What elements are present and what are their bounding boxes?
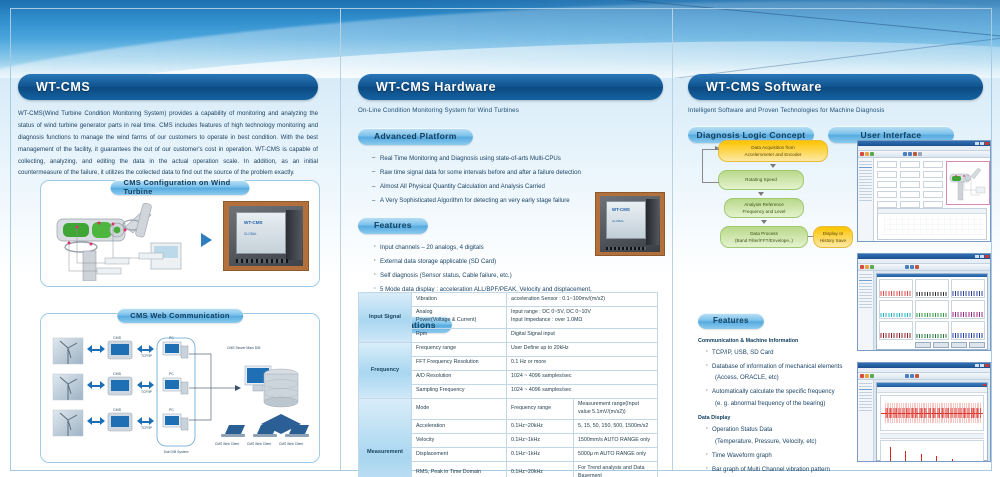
spec-range: 0.1Hz~1kHz (507, 448, 574, 462)
flow-node-analysis-reference: Analysis Reference Frequency and Level (724, 198, 804, 218)
software-header: WT-CMS Software (688, 74, 983, 100)
spec-value: 1500mm/s AUTO RANGE only (574, 434, 658, 448)
list-item: Operation Status Data (704, 425, 858, 435)
cms-web-title: CMS Web Communication (117, 308, 243, 323)
hardware-photo-brand: GLOBAL (612, 219, 624, 223)
table-row: Frequency Frequency range User Define up… (359, 342, 658, 356)
nacelle-schematic-icon (47, 203, 197, 281)
device-photo-brand: GLOBAL (244, 232, 257, 236)
tool-pause-icon[interactable] (865, 374, 869, 378)
mdi-child-window (876, 273, 988, 350)
tree-sidebar[interactable] (858, 271, 874, 351)
tool-settings-icon[interactable] (918, 152, 922, 156)
spec-key: Rpm (412, 328, 507, 342)
brochure-page: WT-CMS WT-CMS(Wind Turbine Condition Mon… (0, 0, 1000, 477)
list-item: Raw time signal data for some intervals … (372, 168, 663, 178)
pc-label-3: PC (169, 408, 174, 412)
client-label-2: CMS Web Client (241, 442, 277, 446)
tcpip-label-3: TCP/IP (141, 426, 152, 430)
specifications-table-wrap: Input Signal Vibration acceleration Sens… (358, 292, 658, 477)
flow-feedback-loop (702, 149, 719, 183)
tool-play-icon[interactable] (870, 374, 874, 378)
maximize-icon[interactable] (980, 255, 984, 258)
device-photo-label: WT-CMS (244, 220, 263, 225)
group-input-signal: Input Signal (359, 293, 412, 343)
frequency-spectrum-chart[interactable] (880, 440, 984, 462)
group-frequency: Frequency (359, 342, 412, 398)
cms-configuration-card: CMS Configuration on Wind Turbine (40, 180, 320, 287)
waveform-cell-navy[interactable] (951, 279, 985, 298)
server-label: CMS Server Main D/B (227, 346, 260, 350)
software-features-title: Features (698, 313, 764, 329)
tool-play-icon[interactable] (870, 152, 874, 156)
client-label-1: CMS Web Client (209, 442, 245, 446)
specifications-table: Input Signal Vibration acceleration Sens… (358, 292, 658, 477)
tool-record-icon[interactable] (860, 152, 864, 156)
close-icon[interactable] (985, 255, 989, 258)
screenshot-multi-channel[interactable] (857, 253, 991, 351)
cms-web-communication-card: CMS Web Communication (40, 313, 320, 463)
tree-sidebar[interactable] (858, 158, 874, 242)
group-measurement: Measurement (359, 398, 412, 477)
overview-body-text: WT-CMS(Wind Turbine Condition Monitoring… (18, 108, 318, 179)
list-item: Real Time Monitoring and Diagnosis using… (372, 154, 663, 164)
waveform-cell-magenta[interactable] (951, 300, 985, 319)
tcpip-label-1: TCP/IP (141, 354, 152, 358)
advanced-platform-title: Advanced Platform (358, 128, 473, 145)
tree-sidebar[interactable] (858, 380, 874, 462)
tool-alarm-icon[interactable] (913, 152, 917, 156)
tool-alarm-icon[interactable] (915, 265, 919, 269)
tool-grid-icon[interactable] (908, 152, 912, 156)
flow-node-rotating-speed: Rotating Speed (718, 170, 804, 190)
spec-range: 0.1Hz~20kHz (507, 420, 574, 434)
spec-key: Vibration (412, 293, 507, 307)
window-body (858, 158, 990, 242)
spec-value: 1024 ~ 4096 samples/sec (507, 370, 658, 384)
column-divider-left (340, 8, 341, 470)
close-icon[interactable] (985, 142, 989, 145)
flow-arrow-icon (201, 233, 212, 247)
list-item: Automatically calculate the specific fre… (704, 387, 858, 397)
mdi-child-window (876, 382, 988, 461)
list-item: Database of information of mechanical el… (704, 362, 858, 372)
window-body (858, 380, 990, 462)
list-item: External data storage applicable (SD Car… (372, 257, 600, 267)
advanced-platform-title-wrap: Advanced Platform (358, 126, 663, 145)
time-waveform-chart[interactable] (880, 395, 984, 431)
waveform-cell-black[interactable] (915, 279, 949, 298)
list-item: Self diagnosis (Sensor status, Cable fai… (372, 271, 600, 281)
cms-label-2: CMS (113, 372, 121, 376)
cms-configuration-title: CMS Configuration on Wind Turbine (111, 180, 250, 195)
tool-grid-icon[interactable] (910, 374, 914, 378)
column-divider-right (672, 8, 673, 470)
hardware-device-photo: WT-CMS GLOBAL (595, 192, 665, 256)
button-close[interactable] (969, 342, 985, 348)
hardware-subtitle: On-Line Condition Monitoring System for … (358, 107, 663, 114)
table-row: Input Signal Vibration acceleration Sens… (359, 293, 658, 307)
software-header-label: WT-CMS Software (688, 80, 822, 94)
cms-label-3: CMS (113, 408, 121, 412)
list-item: TCP/IP, USB, SD Card (704, 348, 858, 358)
sub-db-label: Sub D/B System (156, 450, 196, 454)
features-group-heading-1: Communication & Machine Information (698, 338, 858, 344)
close-icon[interactable] (985, 364, 989, 367)
hardware-features-title: Features (358, 217, 428, 234)
spec-value: Digital Signal input (507, 328, 658, 342)
waveform-cell-green[interactable] (915, 300, 949, 319)
maximize-icon[interactable] (980, 364, 984, 367)
panel-overview: WT-CMS WT-CMS(Wind Turbine Condition Mon… (18, 74, 333, 179)
cms-label-1: CMS (113, 336, 121, 340)
spec-key: Analog Power(Voltage & Current) (412, 306, 507, 328)
panel-software: WT-CMS Software Intelligent Software and… (688, 74, 988, 143)
features-group-heading-2: Data Display (698, 415, 858, 421)
button-print[interactable] (951, 342, 967, 348)
spec-key: Velocity (412, 434, 507, 448)
list-item: Bar graph of Multi Channel vibration pat… (704, 465, 858, 475)
list-item: Almost All Physical Quantity Calculation… (372, 182, 663, 192)
hardware-header: WT-CMS Hardware (358, 74, 663, 100)
spec-value: 5, 15, 50, 150, 500, 1500m/s2 (574, 420, 658, 434)
tool-alarm-icon[interactable] (915, 374, 919, 378)
window-body (858, 271, 990, 351)
tool-chart-icon[interactable] (905, 265, 909, 269)
tool-chart-icon[interactable] (905, 374, 909, 378)
pc-label-1: PC (169, 336, 174, 340)
top-banner (0, 0, 1000, 80)
maximize-icon[interactable] (980, 142, 984, 145)
pc-label-2: PC (169, 372, 174, 376)
list-item-sub: (Temperature, Pressure, Velocity, etc) (704, 437, 858, 447)
flow-feedback-arrow-icon (715, 146, 719, 150)
spec-value: 5000μ m AUTO RANGE only (574, 448, 658, 462)
spec-key: FFT Frequency Resolution (412, 356, 507, 370)
main-stage (874, 271, 990, 351)
button-save[interactable] (933, 342, 949, 348)
tcpip-label-2: TCP/IP (141, 390, 152, 394)
dialog-buttons (879, 342, 985, 348)
spec-key: Sampling Frequency (412, 384, 507, 398)
button-apply[interactable] (915, 342, 931, 348)
tool-play-icon[interactable] (870, 265, 874, 269)
spec-range: 0.1Hz~1kHz (507, 434, 574, 448)
spec-key: Acceleration (412, 420, 507, 434)
toolbar[interactable] (858, 264, 990, 271)
web-communication-diagram (49, 334, 311, 456)
spec-range: 0.1Hz~20kHz (507, 462, 574, 477)
waveform-cell-cyan[interactable] (879, 300, 913, 319)
spec-value: Input range : DC 0~5V, DC 0~10V Input Im… (507, 306, 658, 328)
cms-web-title-pill: CMS Web Communication (117, 305, 243, 323)
spec-value: For Trend analysis and Data Basement (574, 462, 658, 477)
flow-node-data-process: Data Process (Band Filter/FFT/Envelope..… (720, 226, 808, 248)
main-stage (874, 380, 990, 462)
screenshot-status-overview[interactable] (857, 140, 991, 242)
close-icon[interactable] (983, 384, 986, 387)
overview-header: WT-CMS (18, 74, 318, 100)
turbine-schematic-icon (947, 162, 987, 202)
list-item-sub: (Access, ORACLE, etc) (704, 373, 858, 383)
waveform-grid (879, 279, 985, 340)
features-list-display: Operation Status Data (Temperature, Pres… (704, 425, 858, 477)
spec-range: Frequency range (507, 398, 574, 420)
trend-chart-panel (877, 208, 987, 240)
spec-key: A/D Resolution (412, 370, 507, 384)
cms-configuration-title-pill: CMS Configuration on Wind Turbine (111, 172, 250, 195)
list-item-sub: (e. g. abnormal frequency of the bearing… (704, 399, 858, 409)
tool-pause-icon[interactable] (865, 152, 869, 156)
list-item: Input channels – 20 analogs, 4 digitals (372, 243, 600, 253)
main-stage (874, 158, 990, 242)
spec-value: acceleration Sensor : 0.1~100mv/(m/s2) (507, 293, 658, 307)
minimize-icon[interactable] (975, 364, 979, 367)
flow-node-acq: Data Acquisition from Accelerometer and … (718, 140, 828, 162)
spec-value: Measurement range(Input value 5.1mV/(m/s… (574, 398, 658, 420)
spec-value: 0.1 Hz or more (507, 356, 658, 370)
waveform-cell-blue[interactable] (951, 321, 985, 340)
waveform-cell-darkred[interactable] (879, 321, 913, 340)
hardware-header-label: WT-CMS Hardware (358, 80, 496, 94)
minimize-icon[interactable] (975, 142, 979, 145)
waveform-cell-red[interactable] (879, 279, 913, 298)
tool-chart-icon[interactable] (903, 152, 907, 156)
tool-record-icon[interactable] (860, 374, 864, 378)
tool-grid-icon[interactable] (910, 265, 914, 269)
hardware-photo-label: WT-CMS (612, 207, 630, 212)
spec-key: Frequency range (412, 342, 507, 356)
cms-device-photo: WT-CMS GLOBAL (223, 201, 309, 271)
software-features-block: Features Communication & Machine Informa… (698, 310, 858, 477)
channel-value-grid (877, 161, 943, 208)
spec-key: RMS, Peak in Time Domain (412, 462, 507, 477)
software-subtitle: Intelligent Software and Proven Technolo… (688, 107, 988, 114)
flow-node-display-history: Display or History Save (813, 226, 853, 248)
toolbar[interactable] (858, 151, 990, 158)
tool-pause-icon[interactable] (865, 265, 869, 269)
minimize-icon[interactable] (975, 255, 979, 258)
toolbar[interactable] (858, 373, 990, 380)
spec-key: Displacement (412, 448, 507, 462)
list-item: Time Waveform graph (704, 451, 858, 461)
spec-key: Mode (412, 398, 507, 420)
tool-record-icon[interactable] (860, 265, 864, 269)
waveform-cell-darkgreen[interactable] (915, 321, 949, 340)
spec-value: 1024 ~ 4096 samples/sec (507, 384, 658, 398)
features-list-communication: TCP/IP, USB, SD Card Database of informa… (704, 348, 858, 409)
client-label-3: CMS Web Client (273, 442, 309, 446)
overview-header-label: WT-CMS (18, 80, 90, 94)
diagnosis-flow-diagram: Data Acquisition from Accelerometer and … (700, 140, 850, 260)
turbine-schematic-panel (946, 161, 990, 205)
spec-value: User Define up to 20kHz (507, 342, 658, 356)
table-row: Measurement Mode Frequency range Measure… (359, 398, 658, 420)
screenshot-waveform-spectrum[interactable] (857, 362, 991, 462)
